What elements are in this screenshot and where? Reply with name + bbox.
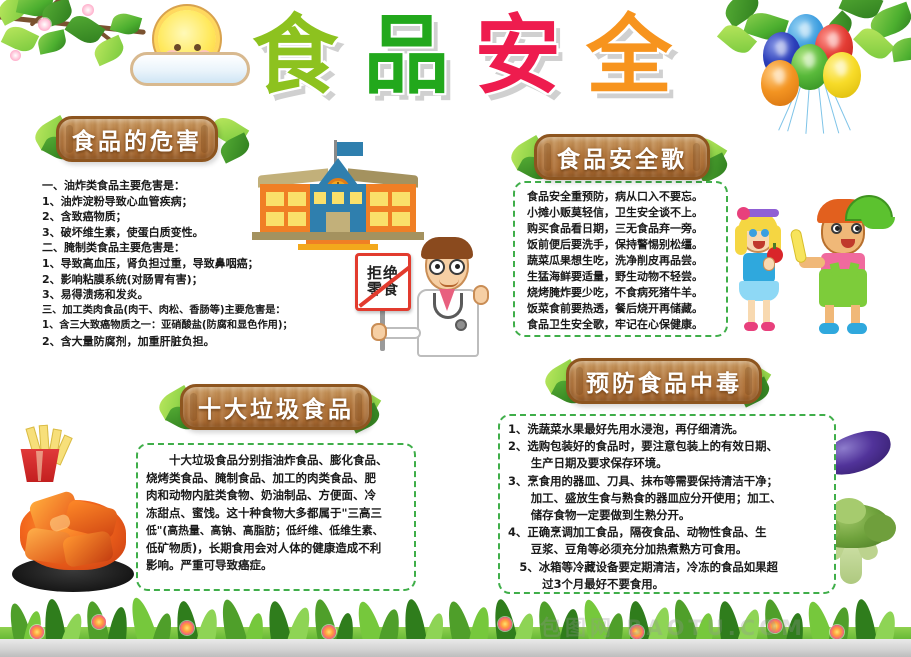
french-fries-illustration	[8, 427, 74, 482]
title-char-4: 全	[586, 13, 672, 99]
poisoning-heading-text: 预防食品中毒	[586, 364, 742, 398]
song-heading-plaque: 食品安全歌	[534, 134, 710, 180]
page-title: 食 品 安 全	[252, 2, 672, 110]
banana-icon	[790, 228, 808, 264]
hazards-line-11: 2、含大量防腐剂，加重肝脏负担。	[42, 334, 372, 350]
hazards-line-1: 一、油炸类食品主要危害是：	[42, 178, 372, 194]
doctor-illustration: 拒绝 零食	[355, 235, 485, 357]
balloon-orange	[761, 60, 799, 106]
hazards-heading-text: 食品的危害	[72, 122, 202, 156]
song-heading-text: 食品安全歌	[557, 140, 687, 174]
song-line-3: 购买食品看日期，三无食品弃一旁。	[527, 221, 727, 237]
poisoning-line-6: 储存食物一定要做到生熟分开。	[508, 507, 834, 524]
poisoning-line-3: 生产日期及要求保存环境。	[508, 455, 834, 472]
title-char-1: 食	[252, 13, 338, 99]
junkfood-line-4: 冻甜点、蜜饯。这十种食物大多都属于"三高三	[146, 505, 412, 523]
hazards-body: 一、油炸类食品主要危害是： 1、油炸淀粉导致心血管疾病； 2、含致癌物质； 3、…	[42, 178, 372, 350]
hazards-line-5: 二、腌制类食品主要危害是：	[42, 240, 372, 256]
hazards-line-9: 三、加工类肉食品(肉干、肉松、香肠等)主要危害是：	[42, 303, 372, 319]
junkfood-line-3: 肉和动物内脏类食物、奶油制品、方便面、冷	[146, 487, 412, 505]
hazards-line-2: 1、油炸淀粉导致心血管疾病；	[42, 194, 372, 210]
song-line-6: 生猛海鲜要适量，野生动物不轻尝。	[527, 269, 727, 285]
poisoning-line-9: 5、冰箱等冷藏设备要定期清洁，冷冻的食品如果超	[508, 559, 834, 576]
junkfood-body: 十大垃圾食品分别指油炸食品、膨化食品、 烧烤类食品、腌制食品、加工的肉类食品、肥…	[146, 452, 412, 575]
refuse-snacks-sign: 拒绝 零食	[355, 253, 411, 311]
spicy-snack-illustration	[6, 490, 141, 600]
song-line-1: 食品安全重预防，病从口入不要忘。	[527, 189, 727, 205]
hazards-line-10: 1、含三大致癌物质之一：亚硝酸盐(防腐和显色作用)；	[42, 318, 372, 334]
poisoning-line-8: 豆浆、豆角等必须充分加热煮熟方可食用。	[508, 541, 834, 558]
poisoning-heading-plaque: 预防食品中毒	[566, 358, 762, 404]
song-line-7: 烧烤腌炸要少吃，不食病死猪牛羊。	[527, 285, 727, 301]
song-line-4: 饭前便后要洗手，保持警惕别松缰。	[527, 237, 727, 253]
junkfood-line-1: 十大垃圾食品分别指油炸食品、膨化食品、	[146, 452, 412, 470]
poisoning-line-1: 1、洗蔬菜水果最好先用水浸泡，再仔细清洗。	[508, 421, 834, 438]
junkfood-line-5: 低"(高热量、高钠、高脂肪；低纤维、低维生素、	[146, 522, 412, 540]
kids-illustration	[737, 195, 911, 340]
hazards-line-4: 3、破坏维生素，使蛋白质变性。	[42, 225, 372, 241]
junkfood-line-7: 影响。严重可导致癌症。	[146, 557, 412, 575]
hazards-line-7: 2、影响粘膜系统(对肠胃有害)；	[42, 272, 372, 288]
hazards-line-6: 1、导致高血压，肾负担过重，导致鼻咽癌；	[42, 256, 372, 272]
hazards-line-8: 3、易得溃疡和发炎。	[42, 287, 372, 303]
junkfood-line-6: 低矿物质)，长期食用会对人体的健康造成不利	[146, 540, 412, 558]
poisoning-line-5: 加工、盛放生食与熟食的器皿应分开使用；加工、	[508, 490, 834, 507]
poisoning-line-7: 4、正确烹调加工食品，隔夜食品、动物性食品、生	[508, 524, 834, 541]
poisoning-line-2: 2、选购包装好的食品时，要注意包装上的有效日期、	[508, 438, 834, 455]
poisoning-line-10: 过3个月最好不要食用。	[508, 576, 834, 593]
junkfood-heading-text: 十大垃圾食品	[198, 390, 354, 424]
title-char-2: 品	[363, 13, 449, 99]
song-line-9: 食品卫生安全歌，牢记在心保健康。	[527, 317, 727, 333]
balloon-yellow	[823, 52, 861, 98]
junkfood-heading-plaque: 十大垃圾食品	[180, 384, 372, 430]
song-line-5: 蔬菜瓜果想生吃，洗净削皮再品尝。	[527, 253, 727, 269]
sun-cloud-icon	[128, 8, 254, 100]
watermark: 包图网 BAOTU.COM	[540, 612, 870, 642]
title-char-3: 安	[475, 13, 561, 99]
junkfood-line-2: 烧烤类食品、腌制食品、加工的肉类食品、肥	[146, 470, 412, 488]
poisoning-line-4: 3、烹食用的器皿、刀具、抹布等需要保持清洁干净；	[508, 473, 834, 490]
poster-canvas: 食 品 安 全 食品的危害 一、油炸类食品主要危害是： 1、油炸淀粉导致心血管疾…	[0, 0, 911, 657]
balloons-decoration	[745, 4, 895, 134]
hazards-heading-plaque: 食品的危害	[56, 116, 218, 162]
poisoning-body: 1、洗蔬菜水果最好先用水浸泡，再仔细清洗。 2、选购包装好的食品时，要注意包装上…	[508, 421, 834, 593]
song-line-2: 小摊小贩莫轻信，卫生安全谈不上。	[527, 205, 727, 221]
hazards-line-3: 2、含致癌物质；	[42, 209, 372, 225]
song-body: 食品安全重预防，病从口入不要忘。 小摊小贩莫轻信，卫生安全谈不上。 购买食品看日…	[527, 189, 727, 333]
song-line-8: 饭菜食前要热透，餐后烧开再储藏。	[527, 301, 727, 317]
